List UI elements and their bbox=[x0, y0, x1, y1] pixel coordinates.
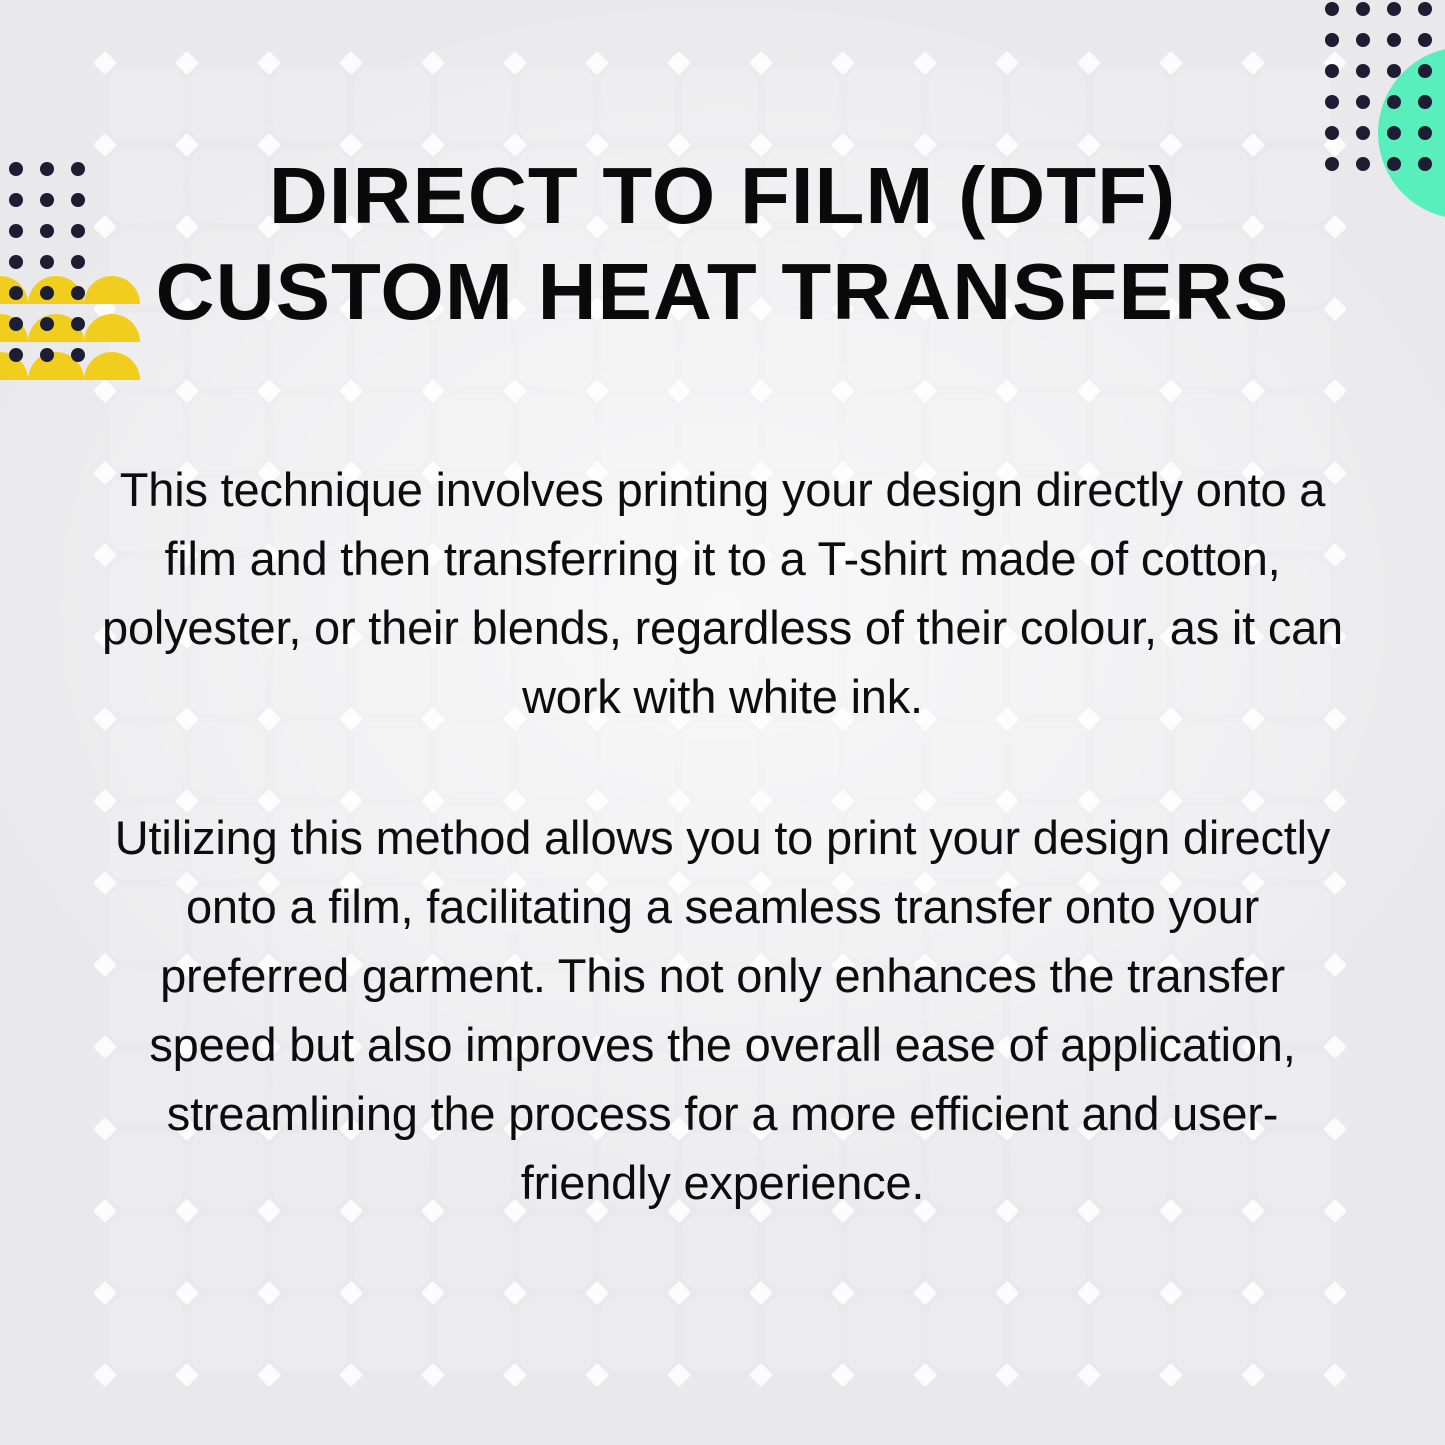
page-title: DIRECT TO FILM (DTF) CUSTOM HEAT TRANSFE… bbox=[0, 148, 1445, 340]
title-line-1: DIRECT TO FILM (DTF) bbox=[98, 148, 1348, 244]
title-line-2: CUSTOM HEAT TRANSFERS bbox=[98, 244, 1348, 340]
body-copy: This technique involves printing your de… bbox=[0, 455, 1445, 1217]
poster-canvas: DIRECT TO FILM (DTF) CUSTOM HEAT TRANSFE… bbox=[0, 0, 1445, 1445]
poster-content: DIRECT TO FILM (DTF) CUSTOM HEAT TRANSFE… bbox=[0, 0, 1445, 1445]
paragraph-2: Utilizing this method allows you to prin… bbox=[92, 803, 1353, 1217]
paragraph-1: This technique involves printing your de… bbox=[92, 455, 1353, 731]
